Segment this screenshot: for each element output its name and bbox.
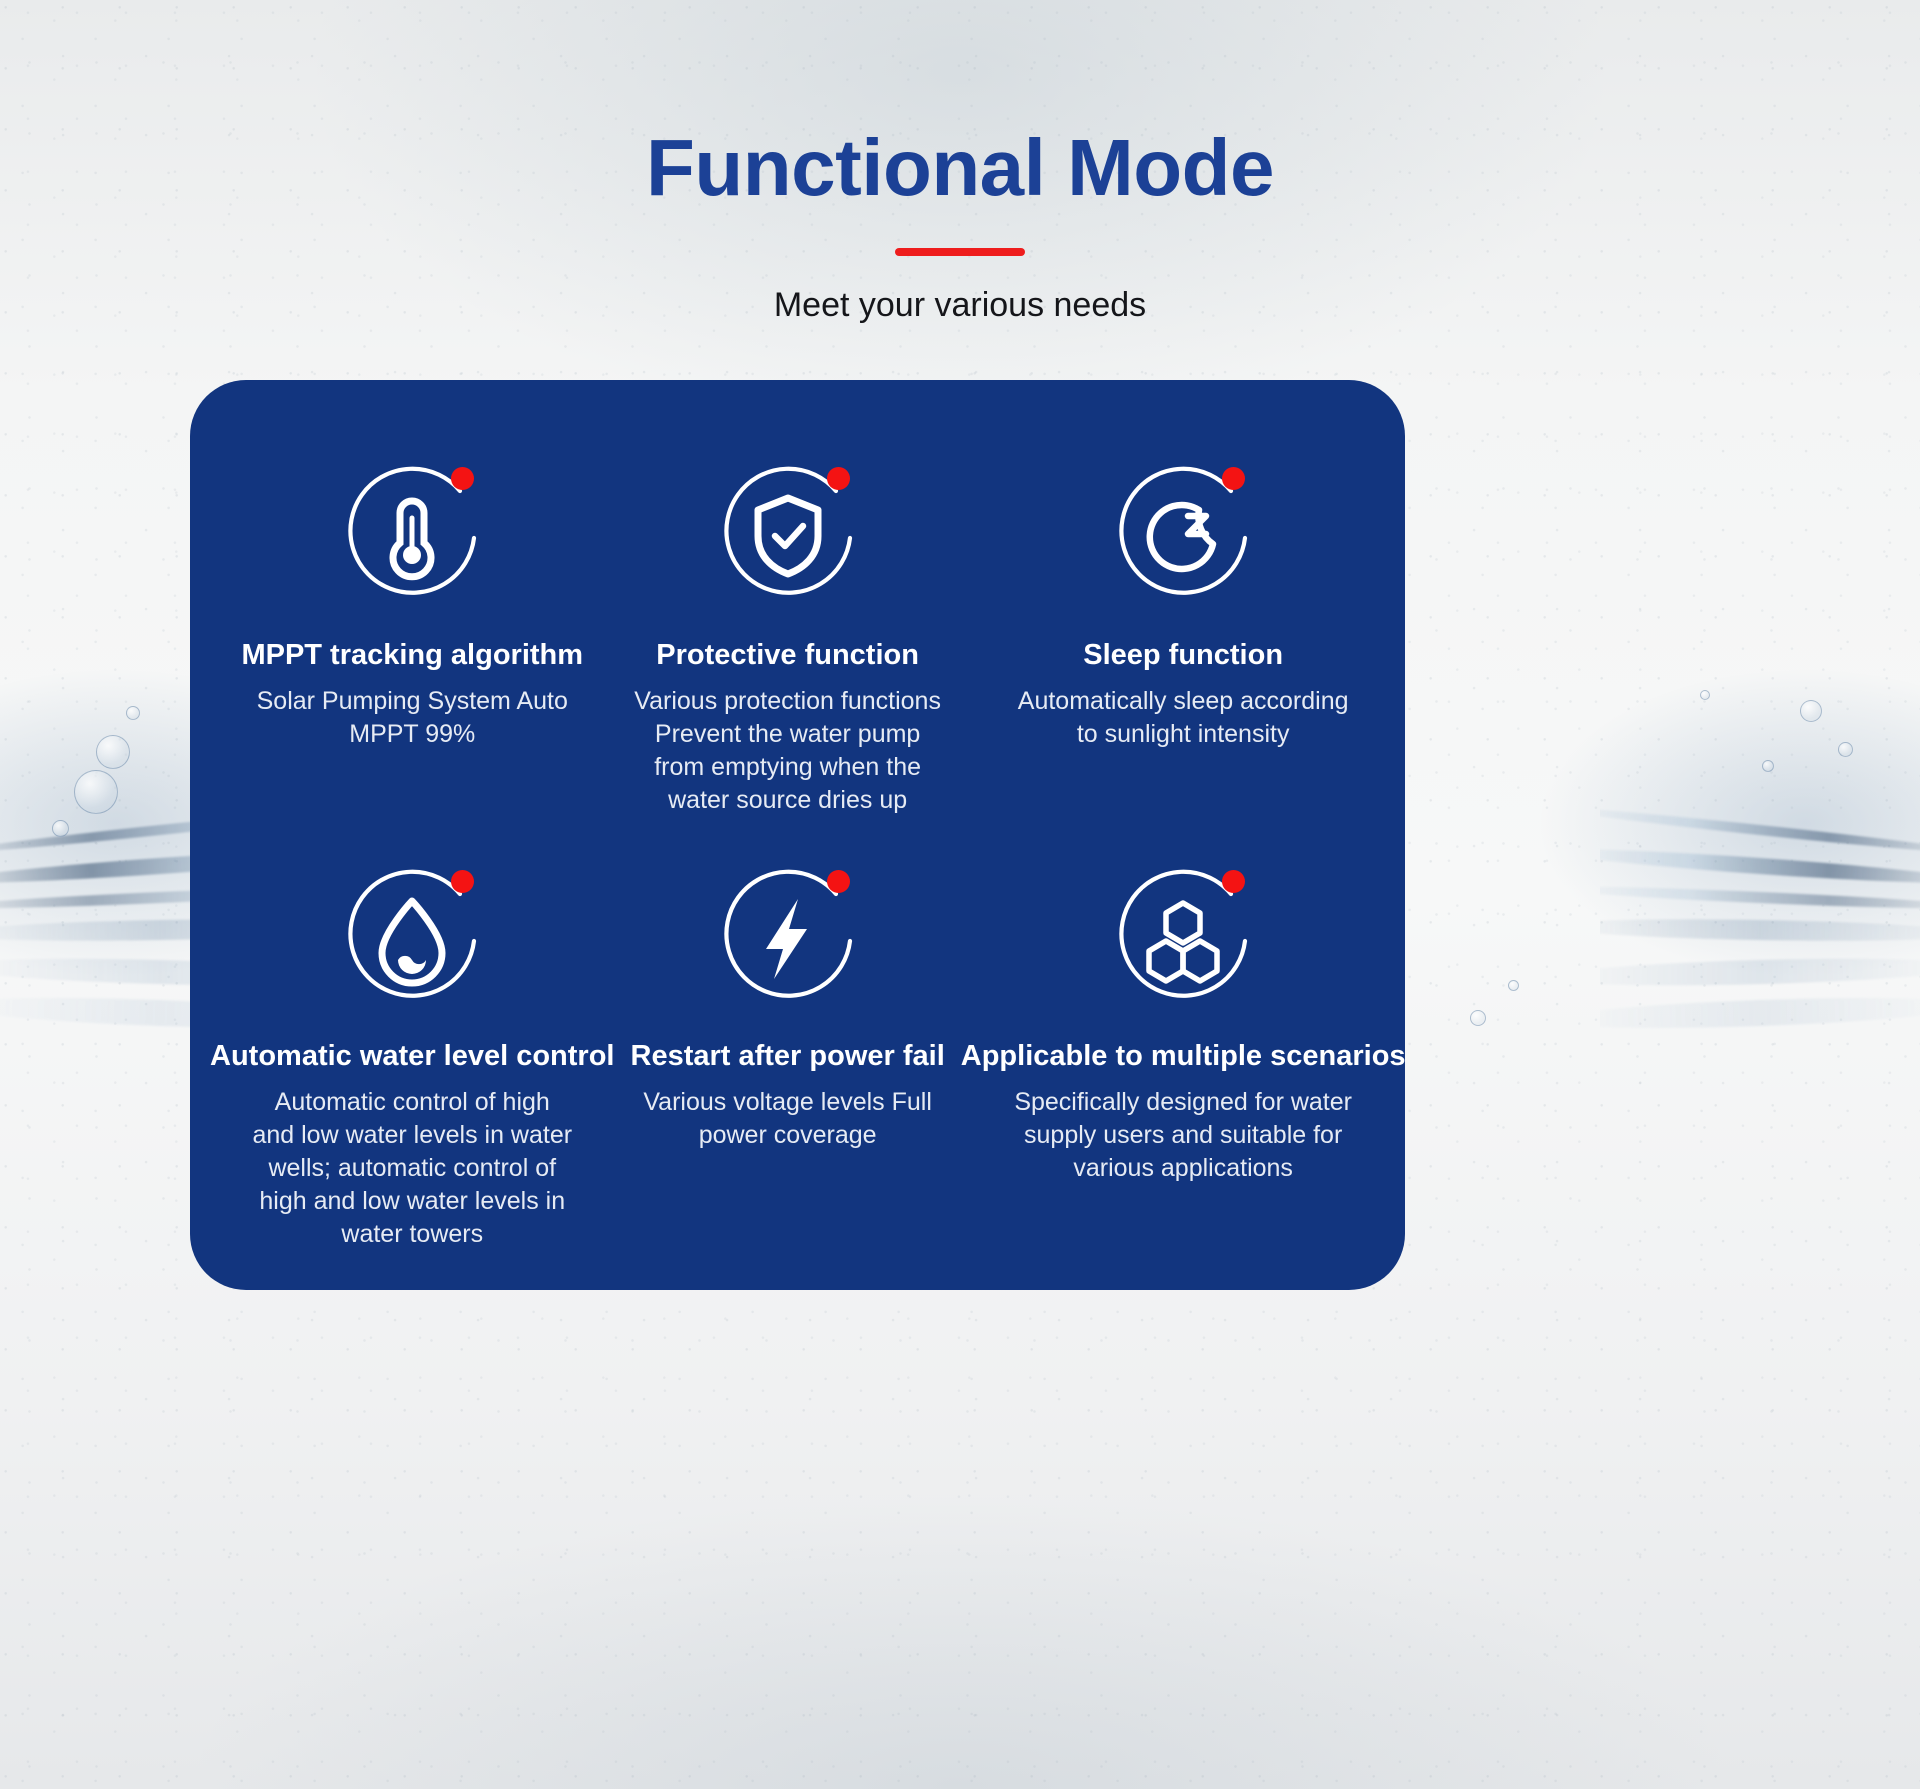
accent-dot-icon: [1222, 870, 1245, 893]
feature-description: Various voltage levels Full power covera…: [631, 1086, 945, 1152]
feature-item-protective-function: Protective function Various protection f…: [623, 454, 953, 857]
feature-item-restart-after-power-fail: Restart after power fail Various voltage…: [623, 857, 953, 1260]
feature-title: Automatic water level control: [210, 1039, 615, 1074]
feature-description: Automatic control of high and low water …: [252, 1086, 572, 1251]
water-drop-icon: [332, 857, 492, 1017]
feature-grid: MPPT tracking algorithm Solar Pumping Sy…: [190, 380, 1405, 1290]
feature-item-sleep-function: Sleep function Automatically sleep accor…: [953, 454, 1414, 857]
feature-description: Specifically designed for water supply u…: [1013, 1086, 1353, 1185]
hexagon-cluster-icon: [1103, 857, 1263, 1017]
feature-title: Sleep function: [1083, 638, 1283, 673]
feature-description: Automatically sleep according to sunligh…: [1013, 685, 1353, 751]
page-title: Functional Mode: [0, 128, 1920, 208]
shield-check-icon: [708, 454, 868, 614]
page-subtitle: Meet your various needs: [0, 286, 1920, 325]
feature-title: Restart after power fail: [631, 1039, 945, 1074]
thermometer-icon: [332, 454, 492, 614]
lightning-bolt-icon: [708, 857, 868, 1017]
accent-dot-icon: [827, 467, 850, 490]
title-divider-rule: [895, 248, 1025, 256]
page-header: Functional Mode Meet your various needs: [0, 0, 1920, 325]
feature-item-automatic-water-level-control: Automatic water level control Automatic …: [202, 857, 623, 1260]
feature-title: Applicable to multiple scenarios: [961, 1039, 1406, 1074]
feature-item-applicable-multiple-scenarios: Applicable to multiple scenarios Specifi…: [953, 857, 1414, 1260]
accent-dot-icon: [1222, 467, 1245, 490]
feature-title: Protective function: [656, 638, 919, 673]
accent-dot-icon: [827, 870, 850, 893]
moon-sleep-icon: [1103, 454, 1263, 614]
feature-description: Various protection functions Prevent the…: [631, 685, 945, 817]
feature-title: MPPT tracking algorithm: [241, 638, 583, 673]
feature-description: Solar Pumping System Auto MPPT 99%: [252, 685, 572, 751]
feature-item-mppt-tracking-algorithm: MPPT tracking algorithm Solar Pumping Sy…: [202, 454, 623, 857]
feature-card-panel: MPPT tracking algorithm Solar Pumping Sy…: [190, 380, 1405, 1290]
